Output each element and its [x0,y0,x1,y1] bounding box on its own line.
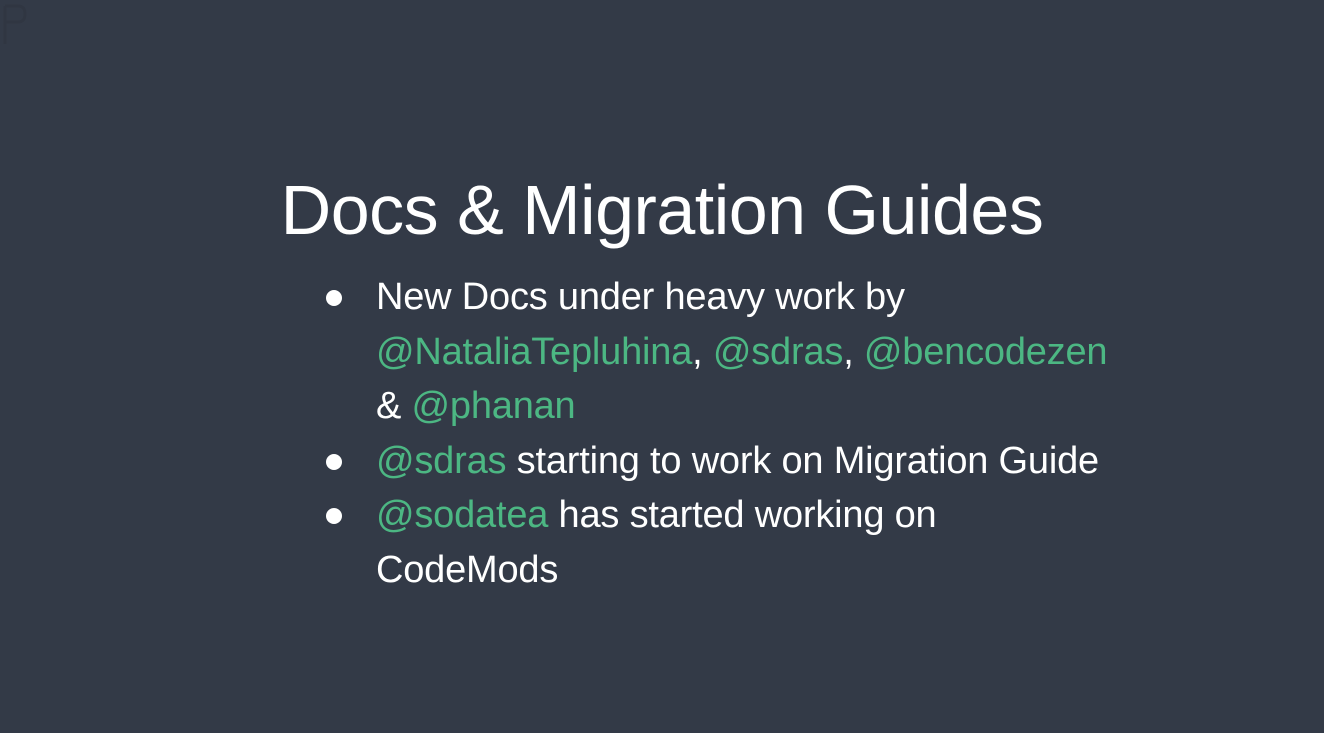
list-item: New Docs under heavy work by @NataliaTep… [318,270,1108,434]
mention-phanan[interactable]: @phanan [412,385,576,427]
mention-sdras[interactable]: @sdras [713,331,843,373]
presentation-slide: Docs & Migration Guides New Docs under h… [0,0,1324,733]
list-item: @sodatea has started working on CodeMods [318,488,1108,597]
page-title: Docs & Migration Guides [0,169,1324,251]
mention-bencodezen[interactable]: @bencodezen [864,331,1107,373]
text-separator: & [376,385,412,427]
bullet-dot-icon [326,508,342,524]
list-item-text: @sodatea has started working on CodeMods [376,494,936,591]
mention-sodatea[interactable]: @sodatea [376,494,548,536]
text-segment: New Docs under heavy work by [376,276,905,318]
text-separator: , [692,331,713,373]
text-separator: , [843,331,864,373]
bullet-dot-icon [326,454,342,470]
text-segment: starting to work on Migration Guide [506,440,1099,482]
list-item-text: New Docs under heavy work by @NataliaTep… [376,276,1107,427]
list-item: @sdras starting to work on Migration Gui… [318,434,1108,489]
mention-nataliatepluhina[interactable]: @NataliaTepluhina [376,331,692,373]
corner-watermark [2,4,28,46]
bullet-dot-icon [326,290,342,306]
mention-sdras[interactable]: @sdras [376,440,506,482]
list-item-text: @sdras starting to work on Migration Gui… [376,440,1099,482]
bullet-list: New Docs under heavy work by @NataliaTep… [318,270,1108,597]
